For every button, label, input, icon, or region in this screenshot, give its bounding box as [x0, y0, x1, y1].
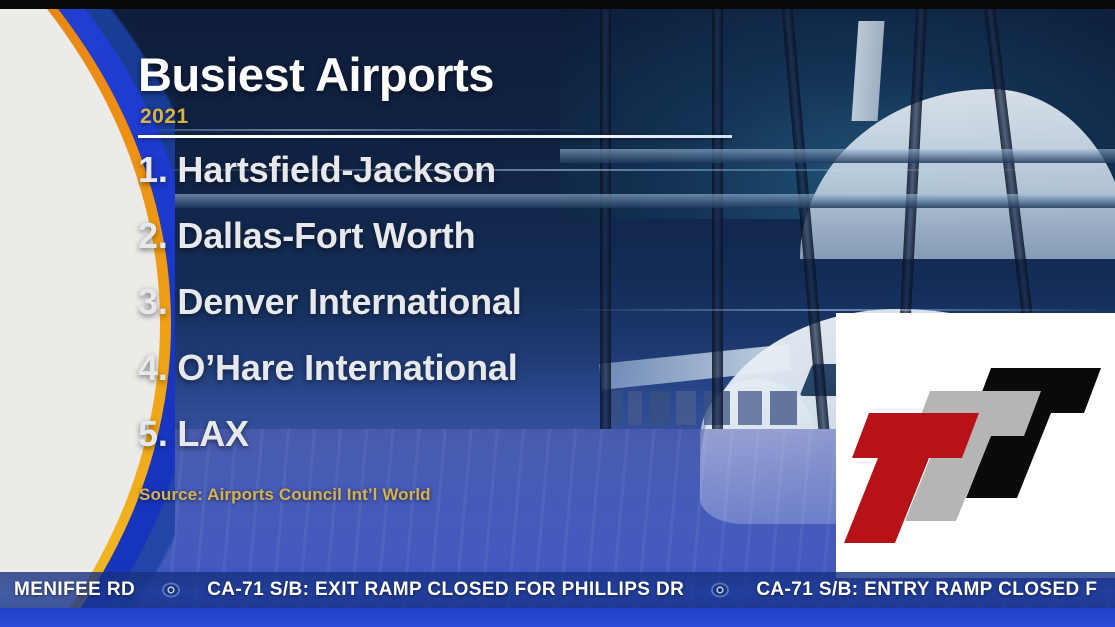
airport-list: 1. Hartsfield-Jackson 2. Dallas-Fort Wor…: [138, 152, 522, 482]
cbs-eye-icon: [161, 580, 181, 600]
list-item: 5. LAX: [138, 416, 522, 452]
broadcast-screen: Busiest Airports 2021 1. Hartsfield-Jack…: [0, 0, 1115, 627]
ticker-item: MENIFEE RD: [14, 579, 135, 601]
news-graphic: Busiest Airports 2021 1. Hartsfield-Jack…: [0, 9, 760, 569]
list-item: 4. O’Hare International: [138, 350, 522, 386]
list-item: 3. Denver International: [138, 284, 522, 320]
list-item: 1. Hartsfield-Jackson: [138, 152, 522, 188]
ticker-strip[interactable]: MENIFEE RD CA-71 S/B: EXIT RAMP CLOSED F…: [0, 572, 1115, 608]
station-logo: [836, 313, 1115, 578]
list-item: 2. Dallas-Fort Worth: [138, 218, 522, 254]
top-letterbox: [0, 0, 1115, 9]
graphic-year: 2021: [140, 105, 189, 129]
graphic-divider: [138, 135, 732, 138]
news-ticker: MENIFEE RD CA-71 S/B: EXIT RAMP CLOSED F…: [0, 572, 1115, 627]
ticker-base-bar: [0, 608, 1115, 627]
cbs-eye-icon: [710, 580, 730, 600]
ticker-item: CA-71 S/B: ENTRY RAMP CLOSED F: [756, 579, 1097, 601]
graphic-source-credit: Source: Airports Council Int’l World: [139, 485, 431, 505]
ticker-item: CA-71 S/B: EXIT RAMP CLOSED FOR PHILLIPS…: [207, 579, 684, 601]
triple-t-logo-icon: [836, 313, 1115, 578]
graphic-title: Busiest Airports: [138, 47, 494, 102]
